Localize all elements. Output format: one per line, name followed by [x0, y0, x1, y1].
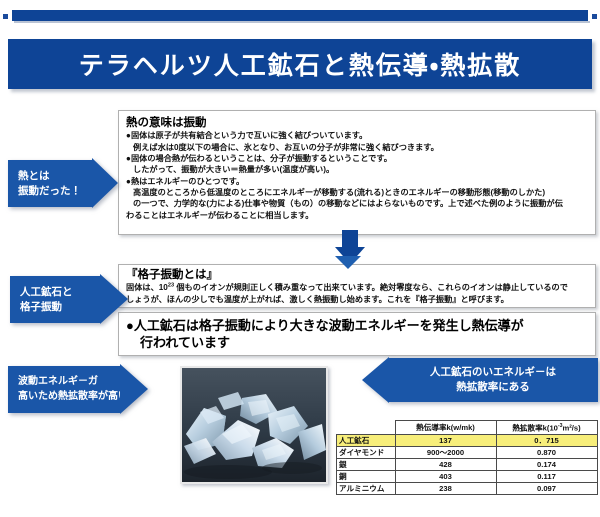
table-row: 銀 428 0.174	[337, 458, 598, 470]
lattice-line1-post: 個ものイオンが規則正しく積み重なって出来ています。絶対零度なら、これらのイオンは…	[174, 283, 568, 292]
table-row: 銅 403 0.117	[337, 470, 598, 482]
heat-panel-line-8: わることはエネルギーが伝わることに相当します。	[126, 210, 589, 221]
callout-arrow-tip	[92, 158, 118, 208]
callout-thermal-diffusivity: 人工鉱石のいエネルギ－は 熱拡散率にある	[362, 358, 598, 402]
callout-body: 人工鉱石と 格子振動	[10, 276, 100, 323]
callout-wave-line-1: 波動エネルギ－ガ	[18, 375, 120, 389]
table-row: 人工鉱石 137 0．715	[337, 434, 598, 446]
callout-arrow-tip	[120, 364, 148, 414]
callout-wave-energy: 波動エネルギ－ガ 高いため熱拡散率が高い	[8, 366, 148, 413]
cell-diffusivity-silver: 0.174	[496, 458, 597, 470]
heat-panel-line-2: 例えば水は0度以下の場合に、氷となり、お互いの分子が非常に強く結びつきます。	[126, 142, 589, 153]
cell-conductivity-silver: 428	[395, 458, 496, 470]
callout-lattice-line-1: 人工鉱石と	[20, 285, 100, 300]
row-label-artificial-ore: 人工鉱石	[337, 434, 396, 446]
callout-diffusivity-line-2: 熱拡散率にある	[388, 380, 598, 395]
table-body: 人工鉱石 137 0．715 ダイヤモンド 900〜2000 0.870 銀 4…	[337, 434, 598, 494]
cell-conductivity-copper: 403	[395, 470, 496, 482]
cell-conductivity-aluminium: 238	[395, 482, 496, 494]
heat-panel-line-7: の一つで、力学的な(力による)仕事や物質（もの）の移動などにはよらないものです。…	[126, 198, 589, 209]
table-row: アルミニウム 238 0.097	[337, 482, 598, 494]
ore-photo-illustration	[182, 368, 326, 482]
slide-canvas: テラヘルツ人工鉱石と熱伝導・熱拡散 熱の意味は振動 ●固体は原子が共有結合という…	[0, 0, 600, 517]
data-table: 熱伝導率k(w/mk) 熱拡散率k(10-3m²/s) 人工鉱石 137 0．7…	[336, 420, 598, 495]
table-header-row: 熱伝導率k(w/mk) 熱拡散率k(10-3m²/s)	[337, 421, 598, 435]
callout-arrow-tip	[362, 357, 389, 403]
page-title: テラヘルツ人工鉱石と熱伝導・熱拡散	[79, 46, 522, 82]
cell-conductivity-diamond: 900〜2000	[395, 446, 496, 458]
heat-panel-line-3: ●固体の場合熱が伝わるということは、分子が振動するということです。	[126, 153, 589, 164]
heat-definition-panel: 熱の意味は振動 ●固体は原子が共有結合という力で互いに強く結びついています。 例…	[118, 110, 596, 235]
cell-diffusivity-diamond: 0.870	[496, 446, 597, 458]
lattice-panel-line-1: 固体は、1023 個ものイオンが規則正しく積み重なって出来ています。絶対零度なら…	[126, 282, 589, 293]
heat-panel-line-1: ●固体は原子が共有結合という力で互いに強く結びついています。	[126, 130, 589, 141]
diffusivity-header-pre: 熱拡散率k(10	[512, 424, 558, 433]
lattice-panel-line-2: しょうが、ほんの少しでも温度が上がれば、激しく熱振動し始めます。これを『格子振動…	[126, 294, 589, 305]
heat-panel-line-5: ●熱はエネルギーのひとつです。	[126, 176, 589, 187]
heat-panel-line-4: したがって、振動が大きい＝熱量が多い(温度が高い)。	[126, 164, 589, 175]
row-label-silver: 銀	[337, 458, 396, 470]
topbar-dot-right	[592, 14, 597, 19]
topbar-dot-left	[3, 14, 8, 19]
lattice-line1-pre: 固体は、10	[126, 283, 168, 292]
heat-panel-line-6: 高温度のところから低温度のところにエネルギーが移動する(流れる)ときのエネルギー…	[126, 187, 589, 198]
key-statement-panel: ●人工鉱石は格子振動により大きな波動エネルギーを発生し熱伝導が 行われています	[118, 312, 596, 356]
title-banner: テラヘルツ人工鉱石と熱伝導・熱拡散	[8, 39, 592, 89]
row-label-copper: 銅	[337, 470, 396, 482]
table-row: ダイヤモンド 900〜2000 0.870	[337, 446, 598, 458]
statement-line-1: ●人工鉱石は格子振動により大きな波動エネルギーを発生し熱伝導が	[126, 317, 589, 334]
callout-arrow-tip	[100, 274, 128, 324]
callout-heat-line-2: 振動だった！	[18, 184, 92, 199]
top-decorative-bar	[0, 10, 600, 22]
callout-wave-line-2: 高いため熱拡散率が高い	[18, 390, 120, 404]
diffusivity-header-post: m²/s)	[563, 424, 581, 433]
lattice-vibration-panel: 『格子振動とは』 固体は、1023 個ものイオンが規則正しく積み重なって出来てい…	[118, 264, 596, 308]
statement-line-2: 行われています	[126, 334, 589, 351]
callout-lattice-line-2: 格子振動	[20, 300, 100, 315]
artificial-ore-photo	[180, 366, 328, 484]
thermal-properties-table: 熱伝導率k(w/mk) 熱拡散率k(10-3m²/s) 人工鉱石 137 0．7…	[336, 420, 594, 495]
callout-ore-lattice-vibration: 人工鉱石と 格子振動	[10, 276, 128, 323]
cell-diffusivity-artificial-ore: 0．715	[496, 434, 597, 446]
callout-body: 波動エネルギ－ガ 高いため熱拡散率が高い	[8, 366, 120, 413]
callout-heat-is-vibration: 熱とは 振動だった！	[8, 160, 118, 207]
callout-body: 人工鉱石のいエネルギ－は 熱拡散率にある	[388, 358, 598, 402]
arrow-stem	[342, 230, 358, 248]
topbar-line	[12, 10, 588, 21]
row-label-diamond: ダイヤモンド	[337, 446, 396, 458]
down-arrow-icon-2	[335, 256, 361, 270]
cell-diffusivity-aluminium: 0.097	[496, 482, 597, 494]
row-label-aluminium: アルミニウム	[337, 482, 396, 494]
column-header-conductivity: 熱伝導率k(w/mk)	[395, 421, 496, 435]
column-header-diffusivity: 熱拡散率k(10-3m²/s)	[496, 421, 597, 435]
heat-panel-heading: 熱の意味は振動	[126, 116, 589, 130]
cell-conductivity-artificial-ore: 137	[395, 434, 496, 446]
lattice-panel-heading: 『格子振動とは』	[126, 268, 589, 282]
cell-diffusivity-copper: 0.117	[496, 470, 597, 482]
table-corner-cell	[337, 421, 396, 435]
topbar-shadow	[14, 21, 590, 23]
arrow-head	[335, 256, 361, 269]
callout-diffusivity-line-1: 人工鉱石のいエネルギ－は	[388, 365, 598, 380]
callout-heat-line-1: 熱とは	[18, 169, 92, 184]
callout-body: 熱とは 振動だった！	[8, 160, 92, 207]
